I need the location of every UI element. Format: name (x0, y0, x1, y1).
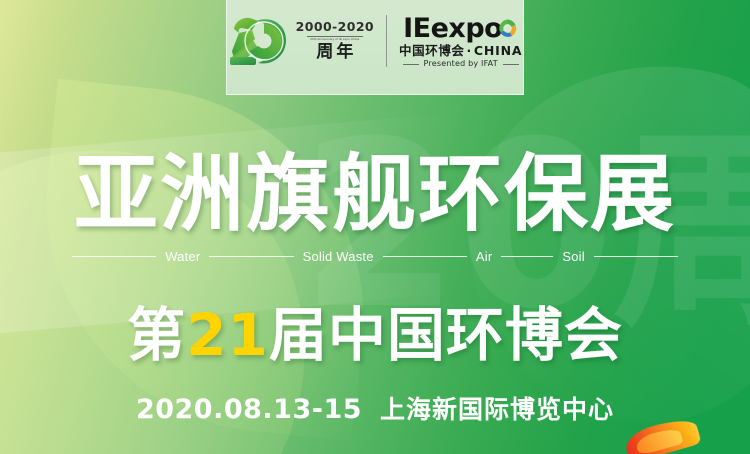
pillar-label-solid-waste: Solid Waste (294, 249, 383, 264)
footer-info: 2020.08.13-15上海新国际博览中心 (0, 390, 750, 426)
event-venue: 上海新国际博览中心 (380, 395, 614, 424)
anniversary-years: 2000-2020 (296, 21, 374, 34)
anniversary-20-mark-icon (228, 15, 290, 67)
headline-secondary-suffix: 届中国环博会 (269, 301, 623, 369)
presented-rule-left (403, 64, 419, 65)
logo-bar-content: 2000-2020 20th Anniversary of IE expo Ch… (228, 15, 523, 69)
headline-secondary-prefix: 第 (127, 301, 186, 369)
pillar-rule-4 (594, 256, 678, 257)
pillar-rule-3 (501, 256, 553, 257)
ieexpo-wordmark-expo: expo (431, 15, 503, 42)
ieexpo-subtitle-dot: · (467, 45, 472, 58)
presented-rule-right (503, 64, 519, 65)
pillars-row: Water Solid Waste Air Soil (72, 249, 678, 264)
headline-edition-number: 21 (186, 301, 269, 369)
pillar-label-water: Water (156, 249, 209, 264)
ieexpo-presented-row: Presented by IFAT (399, 60, 522, 68)
event-date: 2020.08.13-15 (136, 394, 362, 425)
ieexpo-presented-by: Presented by IFAT (424, 60, 498, 68)
ieexpo-logo: IE expo 中国环博会 · CHI (399, 15, 522, 69)
flame-accent-inner-icon (634, 426, 683, 454)
pillar-rule-0 (72, 256, 156, 257)
pillar-rule-1 (209, 256, 293, 257)
ieexpo-subtitle-row: 中国环博会 · CHINA (399, 45, 522, 58)
ieexpo-wordmark-row: IE expo (403, 15, 518, 42)
pillar-label-air: Air (467, 249, 502, 264)
anniversary-chinese: 周年 (313, 44, 356, 61)
anniversary-text-block: 2000-2020 20th Anniversary of IE expo Ch… (296, 21, 374, 61)
pillar-label-soil: Soil (553, 249, 593, 264)
ieexpo-ring-icon (497, 18, 518, 39)
headline-secondary: 第21届中国环博会 (0, 306, 750, 364)
ieexpo-subtitle-cn: 中国环博会 (399, 45, 465, 58)
ieexpo-wordmark-ie: IE (403, 15, 431, 42)
poster-canvas: 20周年 (0, 0, 750, 454)
anniversary-tiny-line: 20th Anniversary of IE expo China (310, 38, 359, 41)
logo-divider (386, 15, 387, 67)
pillar-rule-2 (383, 256, 467, 257)
ieexpo-subtitle-en: CHINA (474, 45, 522, 58)
headline-primary: 亚洲旗舰环保展 (0, 152, 750, 236)
logo-bar: 2000-2020 20th Anniversary of IE expo Ch… (226, 0, 524, 95)
